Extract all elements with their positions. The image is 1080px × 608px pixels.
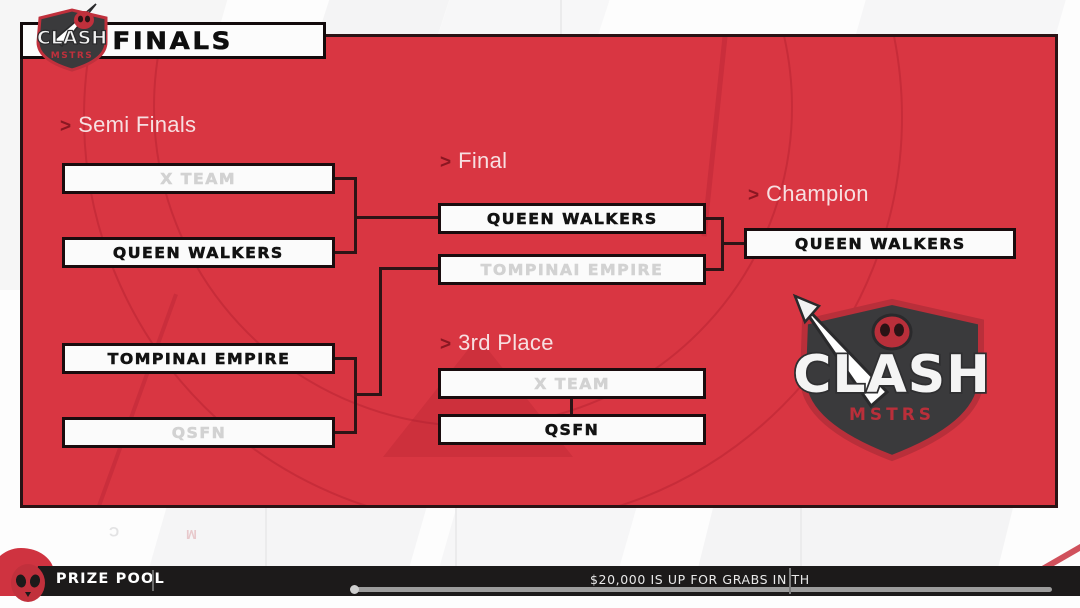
round-label-text: Final	[458, 148, 507, 174]
svg-text:MSTRS: MSTRS	[51, 51, 94, 61]
team-name: TOMPINAI EMPIRE	[107, 350, 290, 368]
bracket-slot-semi-3[interactable]: TOMPINAI EMPIRE	[62, 343, 335, 374]
svg-text:CLASH: CLASH	[37, 27, 107, 49]
panel-streak-decoration	[92, 294, 178, 508]
connector-line	[379, 267, 382, 396]
round-label-final: > Final	[440, 148, 507, 174]
bracket-slot-third-2[interactable]: QSFN	[438, 414, 706, 445]
team-name: QUEEN WALKERS	[487, 210, 658, 228]
round-label-text: Semi Finals	[78, 112, 196, 138]
bracket-slot-semi-2[interactable]: QUEEN WALKERS	[62, 237, 335, 268]
bracket-slot-semi-4[interactable]: QSFN	[62, 417, 335, 448]
bracket-slot-final-2[interactable]: TOMPINAI EMPIRE	[438, 254, 706, 285]
prize-pool-label: PRIZE POOL	[56, 571, 165, 587]
ticker-separator	[789, 568, 791, 594]
watermark-letter-m: M	[185, 527, 197, 542]
team-name: QUEEN WALKERS	[113, 244, 284, 262]
round-label-text: 3rd Place	[458, 330, 554, 356]
clash-mstrs-shield-logo: CLASH MSTRS	[775, 292, 1010, 467]
bottom-ticker: PRIZE POOL $20,000 IS UP FOR GRABS IN TH	[0, 566, 1080, 596]
team-name: QSFN	[545, 421, 600, 439]
round-label-text: Champion	[766, 181, 869, 207]
connector-line	[570, 398, 573, 415]
team-name: X TEAM	[161, 170, 237, 188]
ticker-progress-rail	[352, 587, 1052, 592]
svg-text:MSTRS: MSTRS	[849, 405, 935, 425]
clash-mstrs-logo-small: CLASH MSTRS	[24, 2, 120, 74]
round-label-semi-finals: > Semi Finals	[60, 112, 196, 138]
chevron-right-icon: >	[440, 335, 451, 354]
ticker-underline-gap	[0, 596, 1080, 608]
connector-line	[379, 267, 438, 270]
bracket-slot-final-1[interactable]: QUEEN WALKERS	[438, 203, 706, 234]
team-name: QSFN	[171, 424, 226, 442]
bracket-slot-third-1[interactable]: X TEAM	[438, 368, 706, 399]
round-label-third-place: > 3rd Place	[440, 330, 554, 356]
connector-line	[354, 216, 438, 219]
broadcast-overlay: C M FINALS CLASH MSTRS	[0, 0, 1080, 608]
chevron-right-icon: >	[440, 153, 451, 172]
svg-text:CLASH: CLASH	[793, 345, 991, 405]
chevron-right-icon: >	[60, 117, 71, 136]
ticker-progress-knob[interactable]	[350, 585, 359, 594]
skull-icon	[6, 564, 50, 604]
connector-line	[721, 242, 744, 245]
ticker-divider	[152, 570, 154, 591]
round-label-champion: > Champion	[748, 181, 869, 207]
team-name: TOMPINAI EMPIRE	[481, 261, 664, 279]
watermark-letter-c: C	[108, 524, 119, 540]
page-title-text: FINALS	[113, 27, 233, 55]
bracket-slot-semi-1[interactable]: X TEAM	[62, 163, 335, 194]
ticker-message: $20,000 IS UP FOR GRABS IN TH	[590, 572, 810, 587]
bracket-slot-champion[interactable]: QUEEN WALKERS	[744, 228, 1016, 259]
connector-line	[354, 393, 382, 396]
team-name: X TEAM	[534, 375, 610, 393]
team-name: QUEEN WALKERS	[795, 235, 966, 253]
chevron-right-icon: >	[748, 186, 759, 205]
